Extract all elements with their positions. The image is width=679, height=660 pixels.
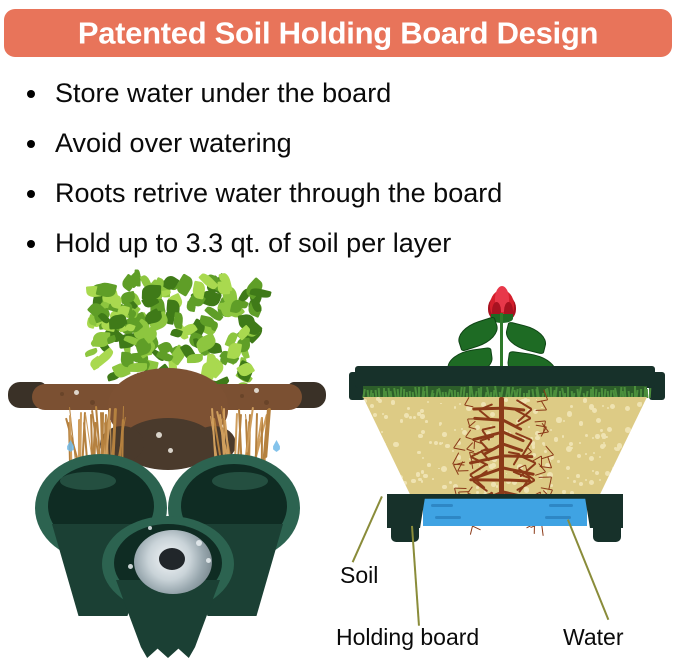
root-branch: [543, 389, 548, 400]
root-branches: [335, 268, 679, 660]
planter-highlight: [212, 472, 268, 490]
water-wave: [549, 504, 573, 507]
water-wave: [431, 504, 453, 507]
disc-bullet-icon: [27, 90, 35, 98]
feature-list: Store water under the board Avoid over w…: [0, 68, 679, 268]
root-branch: [458, 470, 469, 472]
disc-bullet-icon: [27, 240, 35, 248]
list-item: Avoid over watering: [0, 118, 679, 168]
pot-foot-right: [593, 524, 621, 542]
planter-cross-section-diagram: Soil Holding board Water: [335, 268, 679, 660]
callout-label-soil: Soil: [340, 564, 378, 587]
water-wave: [435, 516, 461, 519]
splash-fleck: [148, 526, 152, 530]
feature-text: Hold up to 3.3 qt. of soil per layer: [55, 228, 451, 258]
figures-row: Soil Holding board Water: [0, 268, 679, 660]
root-branch: [472, 407, 502, 410]
root-branch: [502, 407, 526, 412]
feature-text: Roots retrive water through the board: [55, 178, 502, 208]
root-branch: [482, 426, 496, 431]
splash-fleck: [196, 540, 202, 546]
disc-bullet-icon: [27, 190, 35, 198]
splash-fleck: [128, 564, 133, 569]
pot-foot-left: [391, 524, 419, 542]
root-branch: [453, 447, 465, 450]
root-branch: [535, 409, 546, 411]
header-banner: Patented Soil Holding Board Design: [4, 9, 672, 57]
root-branch: [545, 445, 554, 455]
feature-text: Avoid over watering: [55, 128, 292, 158]
disc-bullet-icon: [27, 140, 35, 148]
feature-text: Store water under the board: [55, 78, 391, 108]
page-title: Patented Soil Holding Board Design: [4, 18, 672, 49]
list-item: Store water under the board: [0, 68, 679, 118]
callout-label-holding-board: Holding board: [336, 626, 479, 649]
stacking-planter-photo: [0, 268, 335, 660]
root-branch: [473, 417, 502, 422]
list-item: Roots retrive water through the board: [0, 168, 679, 218]
root-branch: [469, 478, 502, 481]
callout-label-water: Water: [563, 626, 624, 649]
root-branch: [473, 441, 475, 449]
root-branch: [515, 417, 532, 427]
root-branch: [538, 476, 551, 478]
drain-hole: [159, 548, 185, 570]
list-item: Hold up to 3.3 qt. of soil per layer: [0, 218, 679, 268]
root-branch: [455, 487, 467, 489]
water-wave: [545, 516, 571, 519]
planter-highlight: [60, 472, 116, 490]
splash-fleck: [206, 558, 211, 563]
water-reservoir: [423, 496, 587, 526]
